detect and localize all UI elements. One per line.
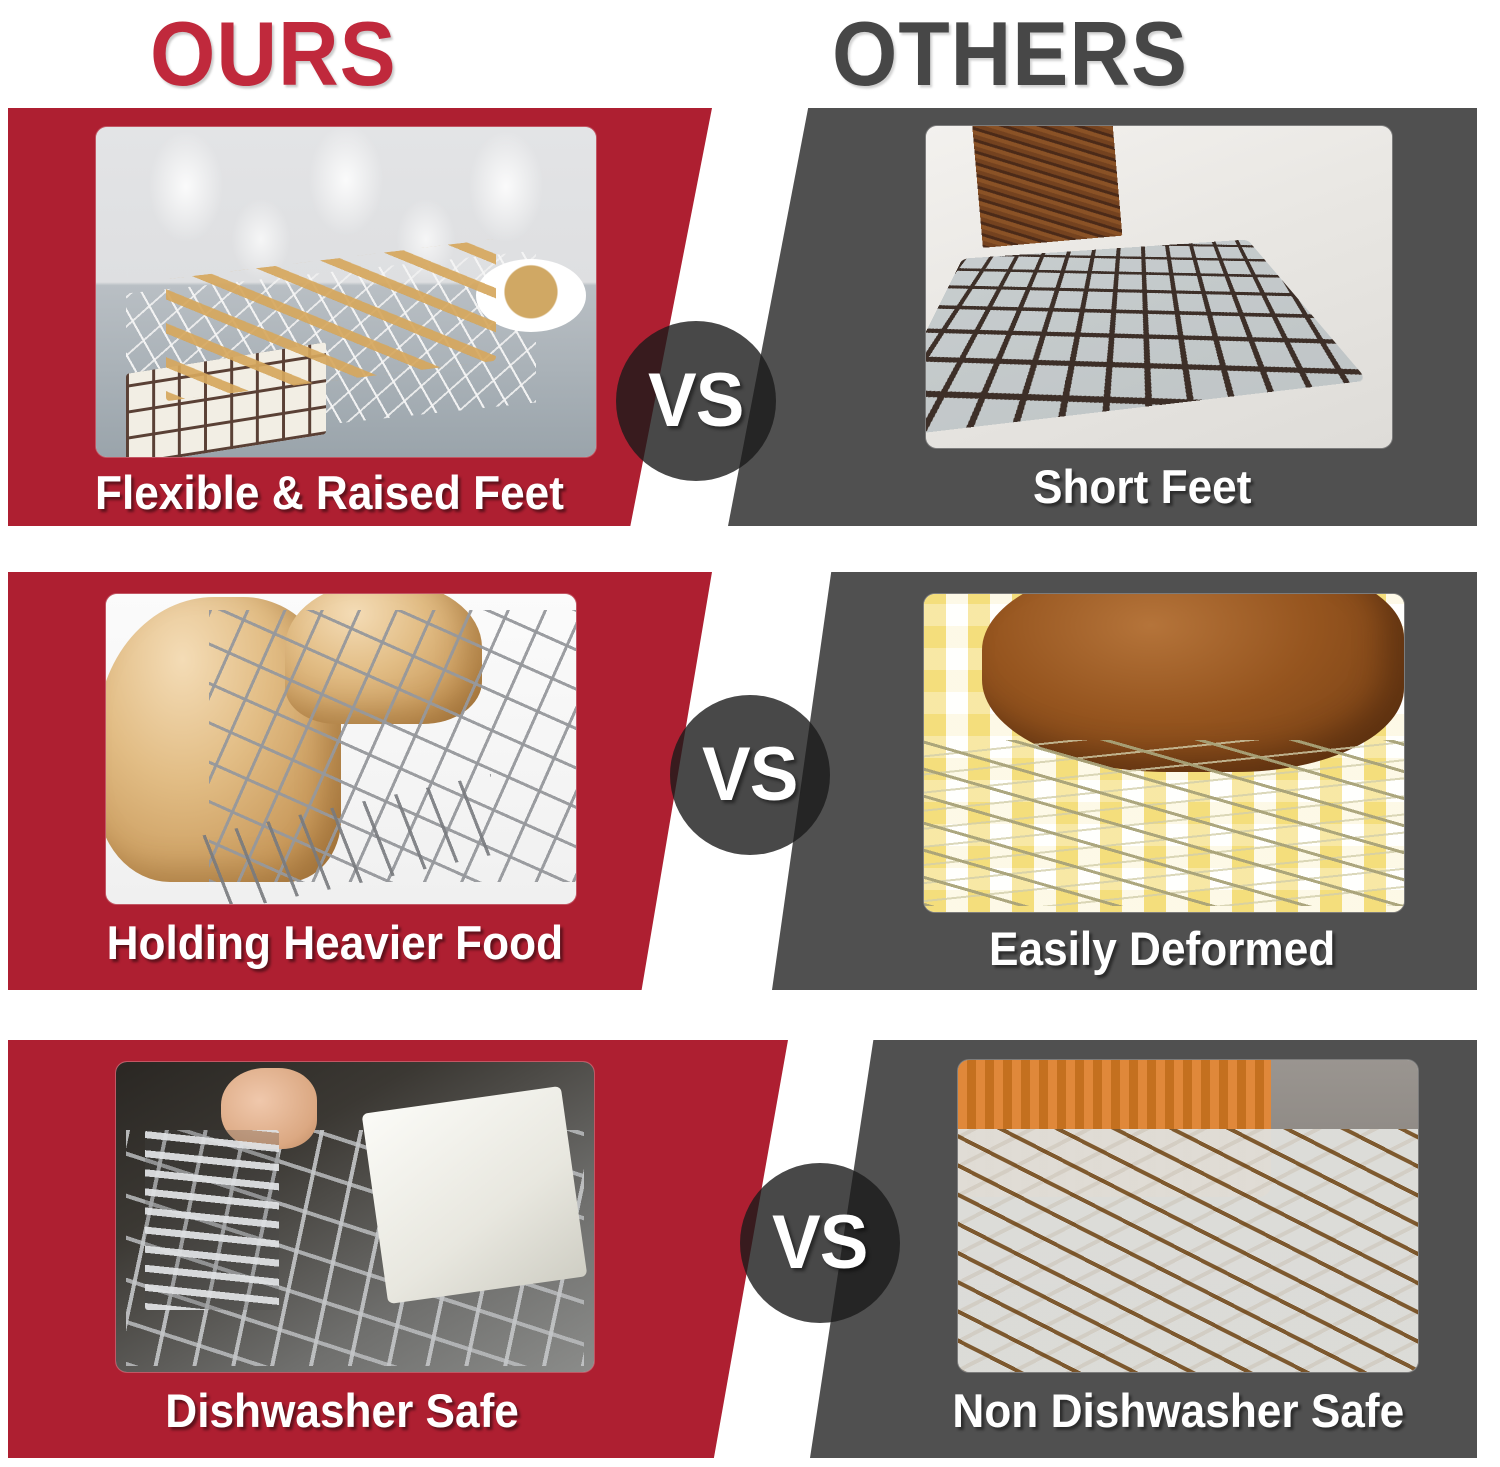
ours-panel-row1: Flexible & Raised Feet [8,108,712,526]
vs-badge-row1: VS [616,321,776,481]
others-caption-row3: Non Dishwasher Safe [952,1384,1404,1438]
vs-label-row2: VS [702,736,797,814]
header-ours-title: OURS [150,2,397,106]
others-panel-row3: Non Dishwasher Safe [810,1040,1477,1458]
others-photo-row2 [924,594,1404,912]
vs-label-row1: VS [648,362,743,440]
others-caption-row1: Short Feet [1033,460,1251,514]
ours-photo-row1 [96,127,596,457]
header-band: OURS OTHERS [0,0,1500,104]
others-photo-row3 [958,1060,1418,1372]
comparison-infographic: OURS OTHERS Flexible & Raised Feet [0,0,1500,1467]
vs-badge-row3: VS [740,1163,900,1323]
ours-caption-row1: Flexible & Raised Feet [95,466,564,520]
others-caption-row2: Easily Deformed [989,922,1335,976]
comparison-row-raised-feet: Flexible & Raised Feet Short Feet VS [0,108,1500,526]
comparison-row-dishwasher: Dishwasher Safe Non Dishwasher Safe VS [0,1040,1500,1458]
others-photo-row1 [926,126,1392,448]
ours-caption-row3: Dishwasher Safe [165,1384,519,1438]
ours-photo-row2 [106,594,576,904]
ours-photo-row3 [116,1062,594,1372]
comparison-row-heavier-food: Holding Heavier Food Easily Deformed VS [0,572,1500,990]
others-panel-row1: Short Feet [728,108,1477,526]
vs-label-row3: VS [772,1204,867,1282]
ours-caption-row2: Holding Heavier Food [107,916,564,970]
ours-panel-row3: Dishwasher Safe [8,1040,788,1458]
vs-badge-row2: VS [670,695,830,855]
ours-panel-row2: Holding Heavier Food [8,572,712,990]
header-others-title: OTHERS [832,2,1188,106]
others-panel-row2: Easily Deformed [772,572,1477,990]
